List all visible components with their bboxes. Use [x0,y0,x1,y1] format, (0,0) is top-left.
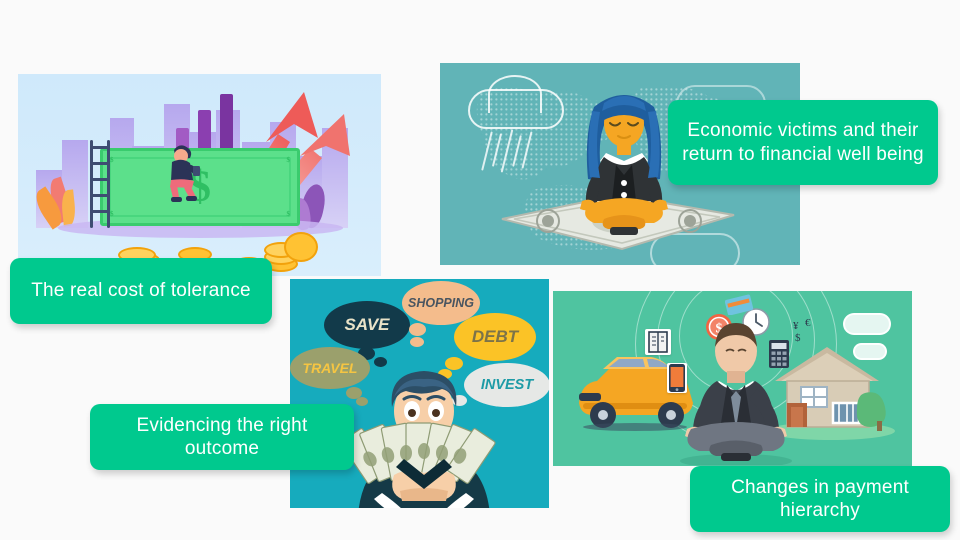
panel-man-with-money: SAVE SHOPPING DEBT TRAVEL INVEST [290,279,549,508]
slide-canvas: $ $ $ $ $ [0,0,960,540]
thought-bubble-label: SAVE [344,315,389,335]
dollar-bill-corner: $ [287,210,291,218]
badge-evidencing[interactable]: Evidencing the right outcome [90,404,354,470]
thought-bubble-dot [374,357,387,367]
meditating-businessman [663,321,809,465]
credit-card-icon [725,293,755,315]
badge-label: Economic victims and their return to fin… [682,119,924,165]
thought-bubble-label: DEBT [472,327,518,347]
thought-bubble-debt: DEBT [454,313,536,361]
cloud-icon [853,343,887,360]
dollar-bill-corner: $ [287,156,291,164]
cloud-icon [488,75,542,113]
cloud-icon [843,313,891,335]
dollar-bill-corner: $ [110,210,114,218]
badge-label: The real cost of tolerance [31,279,251,302]
thought-bubble-dot [409,323,426,336]
badge-label: Changes in payment hierarchy [704,476,936,522]
ladder-icon [90,140,110,228]
badge-payment-hierarchy[interactable]: Changes in payment hierarchy [690,466,950,532]
badge-economic-victims[interactable]: Economic victims and their return to fin… [668,100,938,185]
panel-businessman-assets: $ ¥ € $ [553,291,912,466]
badge-label: Evidencing the right outcome [104,414,340,460]
coin [284,232,318,262]
dollar-bill-corner: $ [110,156,114,164]
panel-money-growth: $ $ $ $ $ [18,74,381,276]
thought-bubble-dot [410,337,424,347]
man-with-banknotes [342,367,506,508]
thought-bubble-label: SHOPPING [408,296,474,310]
thought-bubble-save: SAVE [324,301,410,349]
badge-real-cost[interactable]: The real cost of tolerance [10,258,272,324]
seated-person [160,142,210,204]
